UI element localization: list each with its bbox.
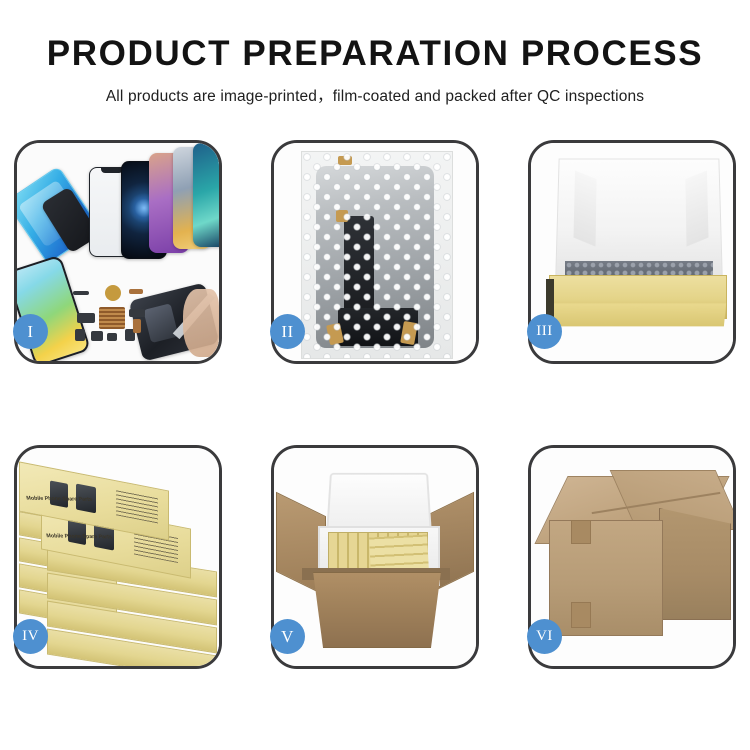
part-vibrator-icon bbox=[91, 331, 103, 341]
box-thumbnail-a1-icon bbox=[50, 480, 68, 507]
part-speaker-coil-icon bbox=[105, 285, 121, 301]
yellow-box-front-icon bbox=[548, 303, 726, 326]
tape-strip-top-icon bbox=[338, 156, 352, 165]
retail-box-label-1: Mobile Phone Spare Parts bbox=[26, 496, 93, 503]
step-badge-3: III bbox=[527, 314, 562, 349]
process-step-panel-6[interactable]: VI bbox=[528, 445, 736, 669]
page-header: PRODUCT PREPARATION PROCESS All products… bbox=[0, 0, 750, 106]
tape-strip-lower-right-icon bbox=[400, 321, 418, 345]
retail-box-label-2: Mobile Phone Spare Parts bbox=[46, 533, 113, 540]
part-flex-cable-icon bbox=[129, 289, 143, 294]
step-badge-4: IV bbox=[13, 619, 48, 654]
page-subtitle: All products are image-printed，film-coat… bbox=[0, 84, 750, 106]
spare-parts-cluster bbox=[73, 285, 153, 359]
carton-tape-upper-icon bbox=[571, 520, 591, 544]
step-badge-1: I bbox=[13, 314, 48, 349]
process-step-grid: I II III bbox=[14, 140, 736, 669]
sealed-carton-side-icon bbox=[659, 508, 731, 620]
box-lid-flap-left-icon bbox=[574, 171, 597, 247]
box-spec-lines-1 bbox=[116, 489, 158, 523]
tape-strip-mid-icon bbox=[336, 210, 348, 222]
process-step-panel-1[interactable]: I bbox=[14, 140, 222, 364]
part-connector-icon bbox=[73, 291, 89, 295]
process-step-panel-3[interactable]: III bbox=[528, 140, 736, 364]
tape-strip-lower-left-icon bbox=[326, 323, 344, 345]
step-badge-5: V bbox=[270, 619, 305, 654]
step-badge-6: VI bbox=[527, 619, 562, 654]
hand-icon bbox=[183, 289, 219, 357]
part-logic-board-icon bbox=[99, 307, 125, 329]
box-lid-icon bbox=[555, 159, 722, 276]
step-badge-2: II bbox=[270, 314, 305, 349]
bubble-wrap-bag-icon bbox=[301, 151, 453, 359]
part-sim-tray-icon bbox=[75, 329, 85, 341]
carton-tape-lower-icon bbox=[571, 602, 591, 628]
part-camera-module-icon bbox=[129, 309, 145, 317]
part-bracket-icon bbox=[77, 313, 95, 323]
part-screw-icon bbox=[107, 333, 117, 341]
process-step-panel-4[interactable]: Mobile Phone Spare Parts Mobile Phone Sp… bbox=[14, 445, 222, 669]
screen-connector-block-icon bbox=[338, 308, 418, 346]
phone-teal-display-icon bbox=[193, 143, 219, 247]
part-antenna-icon bbox=[133, 319, 141, 333]
process-step-panel-5[interactable]: V bbox=[271, 445, 479, 669]
carton-body-icon bbox=[306, 572, 448, 648]
box-lid-flap-right-icon bbox=[685, 171, 708, 247]
sealed-carton-front-icon bbox=[549, 520, 663, 636]
screen-flex-cable-icon bbox=[344, 216, 374, 342]
process-step-panel-2[interactable]: II bbox=[271, 140, 479, 364]
retail-box-stack: Mobile Phone Spare Parts Mobile Phone Sp… bbox=[19, 462, 219, 660]
screen-assembly-icon bbox=[316, 166, 434, 348]
page-title: PRODUCT PREPARATION PROCESS bbox=[0, 36, 750, 73]
